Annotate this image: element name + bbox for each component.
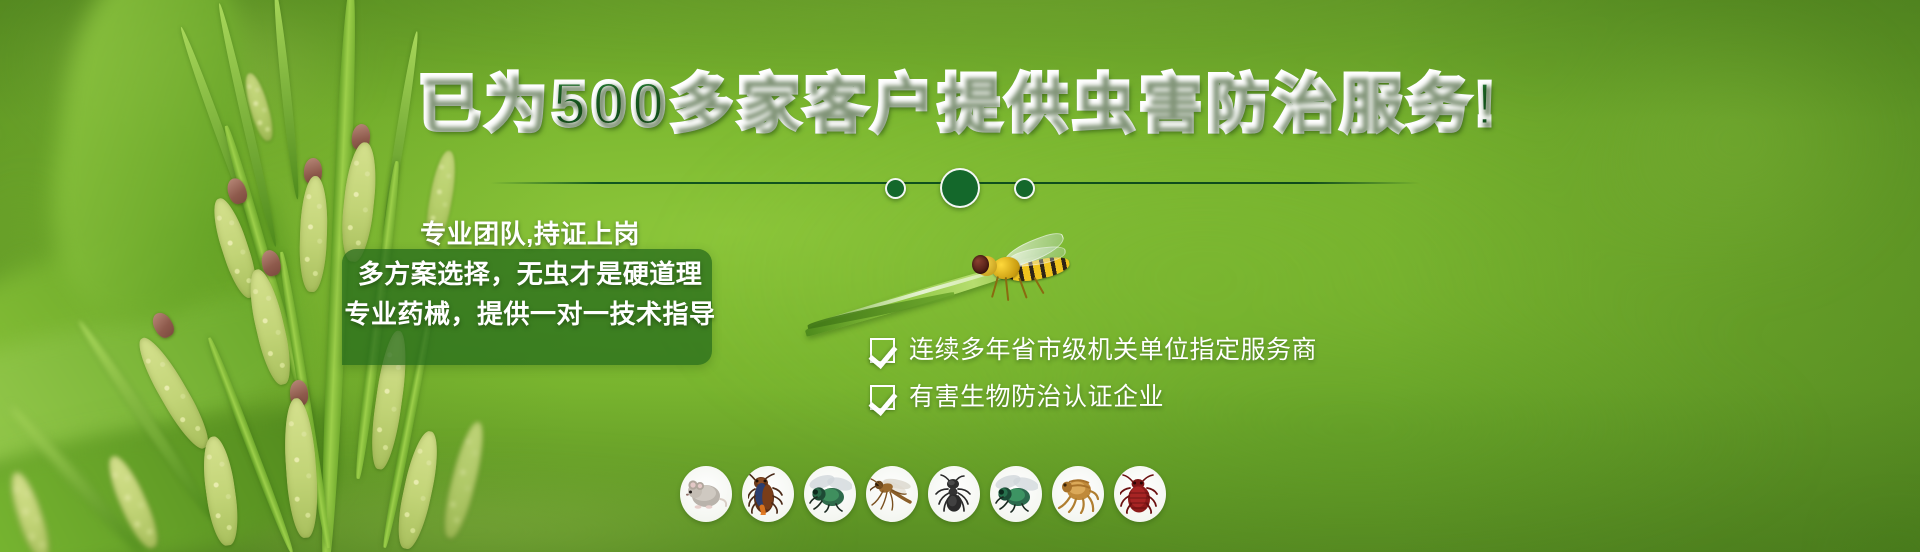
pest-icon-flea[interactable]: 跳蚤 (1052, 466, 1104, 522)
message-line-3: 专业药械，提供一对一技术指导 (344, 294, 715, 331)
ant-icon (934, 474, 974, 514)
banner-headline: 已为500多家客户提供虫害防治服务! (0, 74, 1920, 136)
pest-icon-strip: 鼠 蟑螂 (680, 466, 1166, 522)
decorative-dots (700, 160, 1220, 216)
hoverfly-icon (968, 238, 1078, 298)
pest-icon-cockroach[interactable]: 蟑螂 (742, 466, 794, 522)
flower-spike (438, 419, 490, 541)
pest-icon-mosquito[interactable]: 蚊 (866, 466, 918, 522)
mouse-icon (684, 477, 728, 511)
greenbottle-fly-icon (994, 475, 1038, 513)
feature-item: 连续多年省市级机关单位指定服务商 (870, 338, 1317, 363)
pest-icon-ant[interactable]: 蚁 (928, 466, 980, 522)
pest-icon-greenbottle-fly[interactable]: 绿蝇 (990, 466, 1042, 522)
decorative-dot-small-left (885, 178, 906, 199)
bedbug-icon (1120, 474, 1160, 514)
feature-list: 连续多年省市级机关单位指定服务商 有害生物防治认证企业 (870, 338, 1317, 410)
feature-item: 有害生物防治认证企业 (870, 385, 1317, 410)
mosquito-icon (870, 475, 914, 513)
grass-blade-secondary (807, 292, 956, 329)
decorative-dot-large-center (940, 168, 980, 208)
hoverfly-leg (991, 276, 999, 298)
pest-icon-bedbug[interactable]: 臭虫 (1114, 466, 1166, 522)
hoverfly-leg (1033, 277, 1044, 294)
message-line-1: 专业团队,持证上岗 (420, 214, 640, 251)
pest-icon-mouse[interactable]: 鼠 (680, 466, 732, 522)
housefly-icon (808, 475, 852, 513)
decorative-dot-small-right (1014, 178, 1035, 199)
message-panel-text: 专业团队,持证上岗 多方案选择，无虫才是硬道理 专业药械，提供一对一技术指导 (330, 214, 730, 331)
checkbox-checked-icon (870, 385, 895, 410)
message-line-2: 多方案选择，无虫才是硬道理 (358, 254, 703, 291)
feature-item-label: 有害生物防治认证企业 (909, 385, 1164, 410)
checkbox-checked-icon (870, 338, 895, 363)
cockroach-icon (748, 473, 788, 515)
pest-control-hero-banner: 已为500多家客户提供虫害防治服务! 专业团队,持证上岗 多方案选择，无虫才是硬… (0, 0, 1920, 552)
flower-spike (298, 176, 329, 293)
hoverfly-eye (972, 255, 989, 274)
feature-item-label: 连续多年省市级机关单位指定服务商 (909, 338, 1317, 363)
flea-icon (1057, 474, 1099, 514)
pest-icon-housefly[interactable]: 蝇 (804, 466, 856, 522)
hoverfly-leg (1005, 277, 1009, 301)
banner-headline-text: 已为500多家客户提供虫害防治服务! (418, 70, 1500, 139)
